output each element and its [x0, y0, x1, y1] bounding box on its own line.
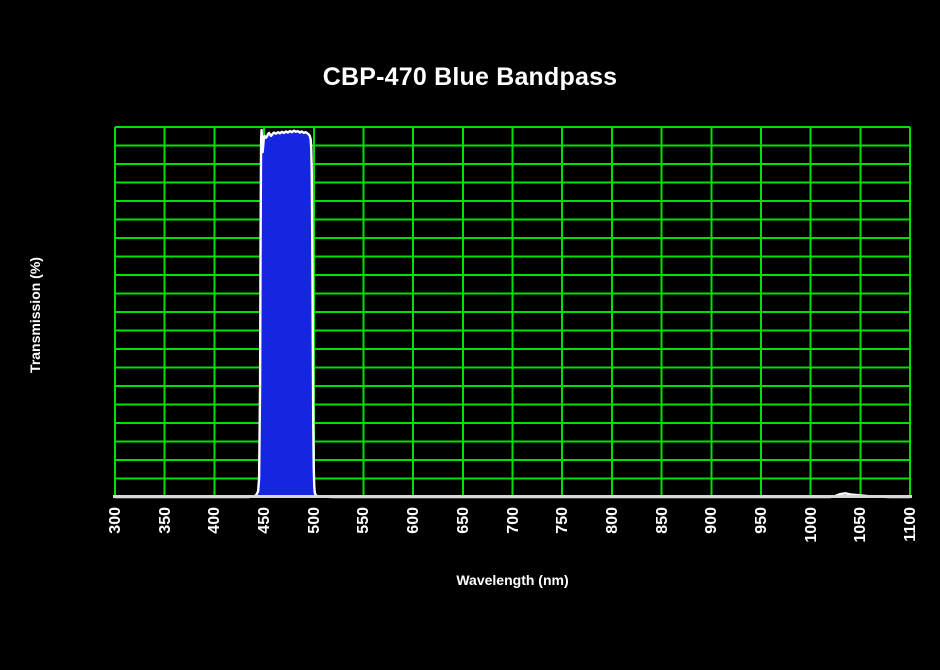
- x-tick-label: 600: [405, 507, 423, 534]
- x-tick-label: 750: [554, 507, 572, 534]
- chart-title: CBP-470 Blue Bandpass: [0, 63, 940, 92]
- x-tick-label: 400: [206, 507, 224, 534]
- y-axis-title-text: Transmission (%): [27, 257, 43, 373]
- x-tick-label: 650: [455, 507, 473, 534]
- x-tick-label: 1000: [803, 507, 821, 543]
- x-axis-line: [113, 495, 912, 498]
- chart-figure: CBP-470 Blue Bandpass Transmission (%) 0…: [0, 0, 940, 670]
- plot-svg: [115, 127, 910, 497]
- x-tick-label: 300: [107, 507, 125, 534]
- x-axis-title: Wavelength (nm): [115, 572, 910, 588]
- x-tick-label: 550: [355, 507, 373, 534]
- x-tick-label: 500: [306, 507, 324, 534]
- x-tick-label: 900: [703, 507, 721, 534]
- x-tick-label: 700: [505, 507, 523, 534]
- x-tick-label: 450: [256, 507, 274, 534]
- x-tick-label: 1050: [852, 507, 870, 543]
- x-tick-label: 800: [604, 507, 622, 534]
- x-tick-label: 950: [753, 507, 771, 534]
- plot-area: [115, 127, 910, 497]
- x-tick-label: 1100: [902, 507, 920, 542]
- y-axis-title: Transmission (%): [22, 165, 48, 465]
- x-tick-label: 350: [157, 507, 175, 534]
- x-tick-label: 850: [654, 507, 672, 534]
